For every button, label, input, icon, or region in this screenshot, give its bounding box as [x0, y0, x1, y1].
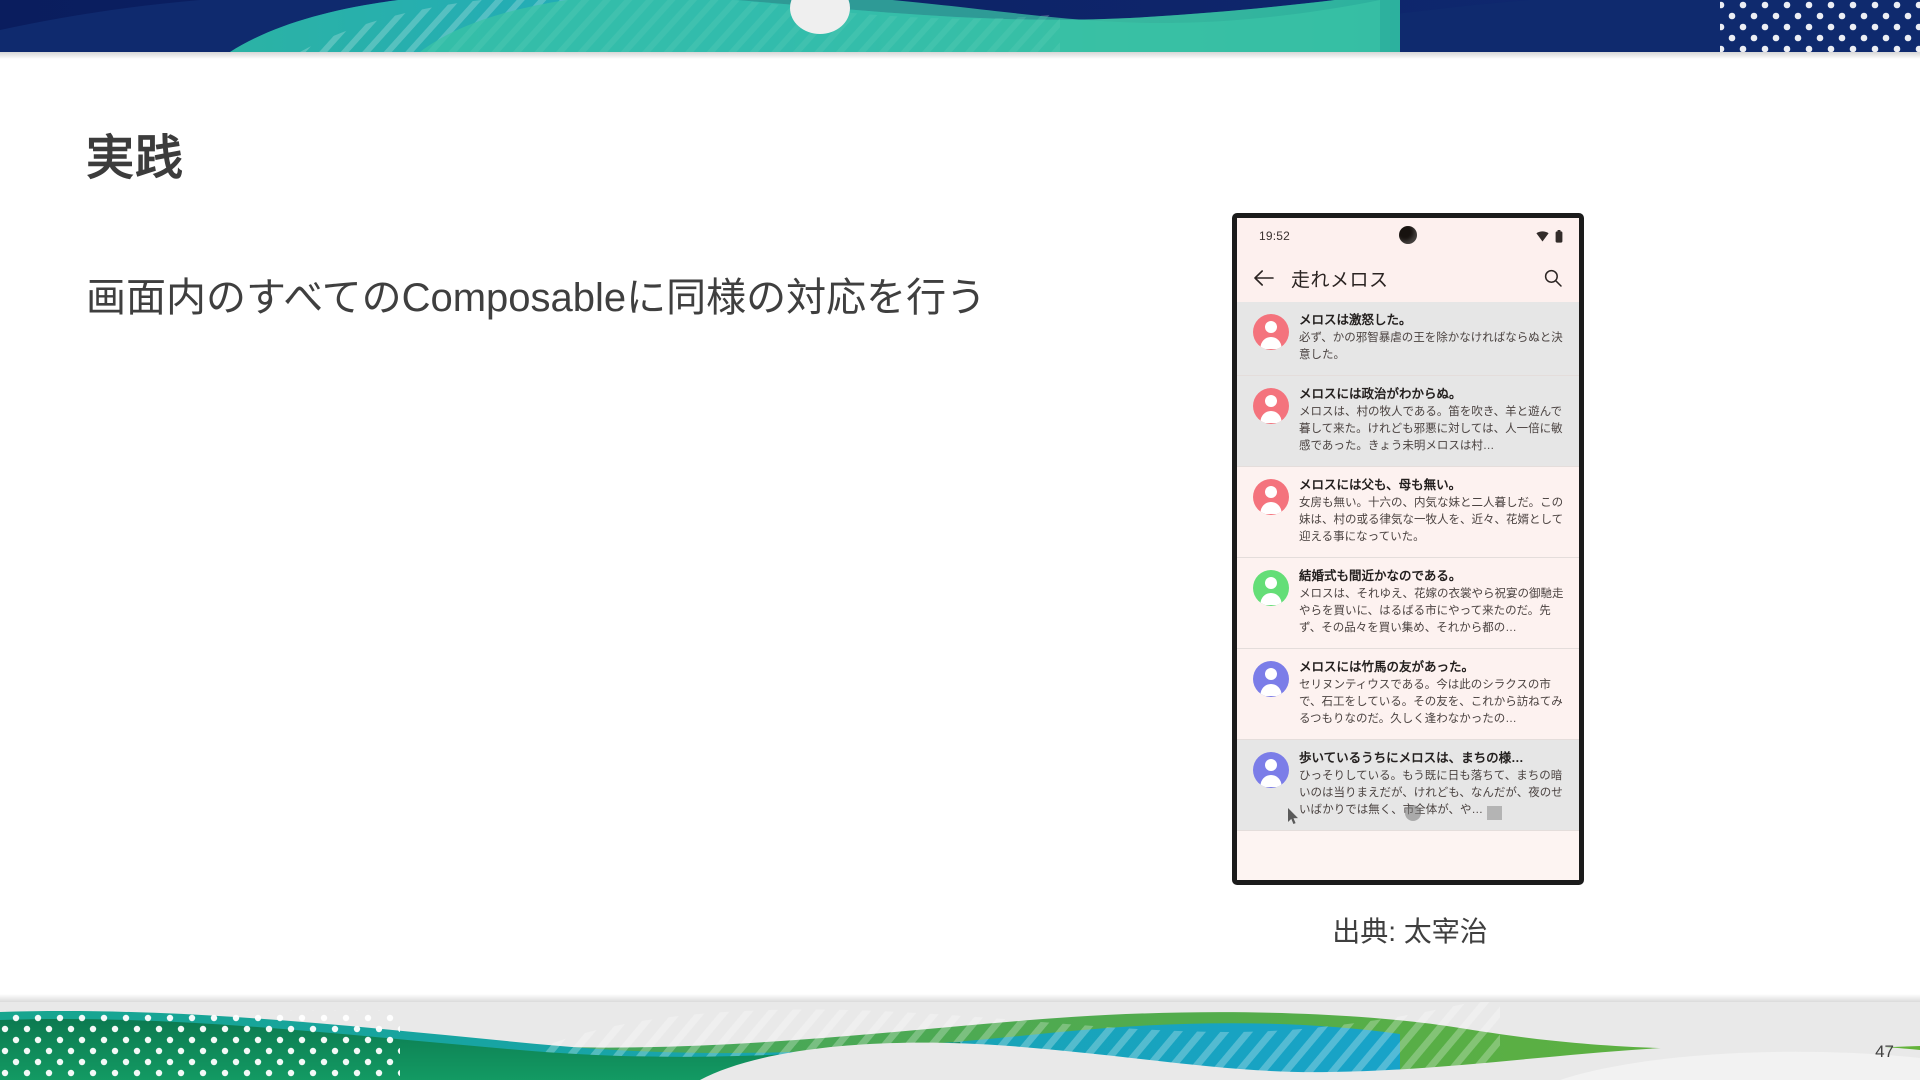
- avatar: [1253, 388, 1289, 424]
- status-bar-time: 19:52: [1259, 229, 1290, 243]
- wifi-icon: [1536, 231, 1549, 242]
- list-item-text: 結婚式も間近かなのである。メロスは、それゆえ、花嫁の衣裳やら祝宴の御馳走やらを買…: [1299, 567, 1567, 637]
- avatar-body-icon: [1261, 502, 1282, 514]
- page-number: 47: [1875, 1042, 1894, 1062]
- avatar-head-icon: [1265, 577, 1277, 589]
- status-bar-icons: [1536, 230, 1563, 243]
- touch-indicator-dot: [1405, 805, 1421, 821]
- avatar: [1253, 314, 1289, 350]
- avatar-head-icon: [1265, 321, 1277, 333]
- list-item-title: メロスには竹馬の友があった。: [1299, 658, 1565, 676]
- avatar-body-icon: [1261, 337, 1282, 349]
- article-list[interactable]: メロスは激怒した。必ず、かの邪智暴虐の王を除かなければならぬと決意した。メロスに…: [1237, 302, 1579, 880]
- avatar-head-icon: [1265, 486, 1277, 498]
- top-banner-graphic: [0, 0, 1920, 52]
- list-item-text: メロスには竹馬の友があった。セリヌンティウスである。今は此のシラクスの市で、石工…: [1299, 658, 1567, 728]
- list-item-description: ひっそりしている。もう既に日も落ちて、まちの暗いのは当りまえだが、けれども、なん…: [1299, 768, 1565, 819]
- page-title: 実践: [86, 118, 184, 188]
- arrow-back-icon[interactable]: [1251, 265, 1277, 291]
- avatar-head-icon: [1265, 668, 1277, 680]
- bottom-banner-shadow: [0, 994, 1920, 1002]
- search-icon[interactable]: [1541, 266, 1565, 290]
- list-item-title: メロスは激怒した。: [1299, 311, 1565, 329]
- list-item-text: メロスには政治がわからぬ。メロスは、村の牧人である。笛を吹き、羊と遊んで暮して来…: [1299, 385, 1567, 455]
- avatar: [1253, 661, 1289, 697]
- avatar: [1253, 479, 1289, 515]
- list-item-description: 女房も無い。十六の、内気な妹と二人暮しだ。この妹は、村の或る律気な一牧人を、近々…: [1299, 495, 1565, 546]
- touch-indicator-block: [1487, 806, 1502, 820]
- avatar-body-icon: [1261, 684, 1282, 696]
- bottom-banner-graphic: [0, 1002, 1920, 1080]
- slide-body-text: 画面内のすべてのComposableに同様の対応を行う: [86, 258, 1096, 338]
- phone-app-bar: 走れメロス: [1237, 254, 1579, 302]
- avatar-body-icon: [1261, 593, 1282, 605]
- list-item-description: セリヌンティウスである。今は此のシラクスの市で、石工をしている。その友を、これか…: [1299, 677, 1565, 728]
- list-item-description: メロスは、それゆえ、花嫁の衣裳やら祝宴の御馳走やらを買いに、はるばる市にやって来…: [1299, 586, 1565, 637]
- battery-icon: [1555, 230, 1563, 243]
- list-item-description: メロスは、村の牧人である。笛を吹き、羊と遊んで暮して来た。けれども邪悪に対しては…: [1299, 404, 1565, 455]
- source-caption: 出典: 太宰治: [1210, 910, 1610, 950]
- avatar-body-icon: [1261, 411, 1282, 423]
- list-item-title: 歩いているうちにメロスは、まちの様…: [1299, 749, 1565, 767]
- list-item-text: 歩いているうちにメロスは、まちの様…ひっそりしている。もう既に日も落ちて、まちの…: [1299, 749, 1567, 819]
- list-item-description: 必ず、かの邪智暴虐の王を除かなければならぬと決意した。: [1299, 330, 1565, 364]
- top-banner-shadow: [0, 52, 1920, 59]
- list-item[interactable]: メロスには竹馬の友があった。セリヌンティウスである。今は此のシラクスの市で、石工…: [1237, 649, 1579, 740]
- avatar-head-icon: [1265, 759, 1277, 771]
- slide-canvas: 実践 画面内のすべてのComposableに同様の対応を行う 19:52: [0, 0, 1920, 1080]
- list-item-title: メロスには政治がわからぬ。: [1299, 385, 1565, 403]
- list-item-title: 結婚式も間近かなのである。: [1299, 567, 1565, 585]
- avatar: [1253, 570, 1289, 606]
- bottom-decorative-banner: [0, 1002, 1920, 1080]
- list-item[interactable]: メロスには政治がわからぬ。メロスは、村の牧人である。笛を吹き、羊と遊んで暮して来…: [1237, 376, 1579, 467]
- avatar: [1253, 752, 1289, 788]
- front-camera-icon: [1399, 226, 1417, 244]
- list-item-text: メロスには父も、母も無い。女房も無い。十六の、内気な妹と二人暮しだ。この妹は、村…: [1299, 476, 1567, 546]
- list-item-text: メロスは激怒した。必ず、かの邪智暴虐の王を除かなければならぬと決意した。: [1299, 311, 1567, 364]
- list-item[interactable]: 歩いているうちにメロスは、まちの様…ひっそりしている。もう既に日も落ちて、まちの…: [1237, 740, 1579, 831]
- avatar-body-icon: [1261, 775, 1282, 787]
- phone-status-bar: 19:52: [1237, 218, 1579, 254]
- list-item-title: メロスには父も、母も無い。: [1299, 476, 1565, 494]
- app-bar-title: 走れメロス: [1291, 265, 1541, 292]
- list-item[interactable]: 結婚式も間近かなのである。メロスは、それゆえ、花嫁の衣裳やら祝宴の御馳走やらを買…: [1237, 558, 1579, 649]
- list-item[interactable]: メロスには父も、母も無い。女房も無い。十六の、内気な妹と二人暮しだ。この妹は、村…: [1237, 467, 1579, 558]
- phone-mockup: 19:52 走れメロス: [1232, 213, 1584, 885]
- avatar-head-icon: [1265, 395, 1277, 407]
- list-item[interactable]: メロスは激怒した。必ず、かの邪智暴虐の王を除かなければならぬと決意した。: [1237, 302, 1579, 376]
- top-decorative-banner: [0, 0, 1920, 52]
